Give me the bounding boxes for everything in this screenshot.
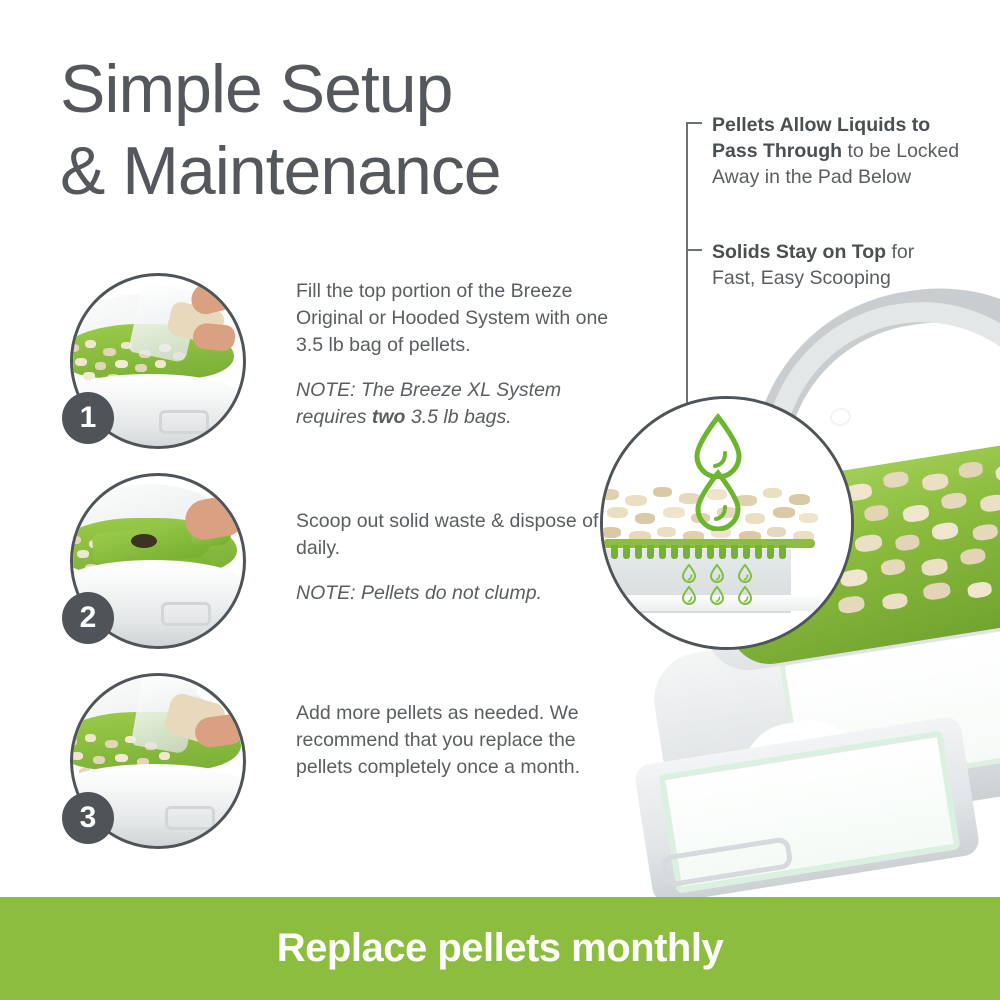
liquid-drop-small-6	[737, 585, 753, 605]
bottom-banner: Replace pellets monthly	[0, 897, 1000, 1000]
step-2-badge: 2	[62, 592, 114, 644]
liquid-drop-small-3	[737, 563, 753, 583]
solid-waste	[131, 534, 157, 548]
liquid-drop-small-1	[681, 563, 697, 583]
step-1-note: NOTE: The Breeze XL System requires two …	[296, 377, 636, 431]
step-2-text: Scoop out solid waste & dispose of daily…	[296, 508, 636, 607]
drawer-handle-shape	[159, 410, 209, 434]
page-title: Simple Setup & Maintenance	[60, 48, 680, 212]
drawer-handle-shape	[161, 602, 211, 626]
hand	[188, 277, 240, 317]
inset-grate-pegs	[611, 545, 789, 559]
step-1-body: Fill the top portion of the Breeze Origi…	[296, 278, 636, 359]
step-2-body: Scoop out solid waste & dispose of daily…	[296, 508, 636, 562]
step-3-badge: 3	[62, 792, 114, 844]
liquid-drop-large-2	[693, 469, 743, 531]
callout-2-bold: Solids Stay on Top	[712, 241, 886, 263]
infographic-canvas: Simple Setup & Maintenance	[0, 0, 1000, 1000]
step-1-badge: 1	[62, 392, 114, 444]
callout-tick-1	[686, 122, 702, 124]
step-2-note: NOTE: Pellets do not clump.	[296, 580, 636, 607]
liquid-drop-small-5	[709, 585, 725, 605]
magnifier-inset	[600, 396, 854, 650]
callout-1: Pellets Allow Liquids to Pass Through to…	[712, 112, 972, 190]
hand-lower	[192, 322, 236, 352]
step-3-body: Add more pellets as needed. We recommend…	[296, 700, 616, 781]
callout-tick-2	[686, 249, 702, 251]
banner-text: Replace pellets monthly	[277, 926, 723, 971]
drawer-handle-shape	[165, 806, 215, 830]
liquid-drop-small-2	[709, 563, 725, 583]
step-3-text: Add more pellets as needed. We recommend…	[296, 700, 616, 781]
step-1-text: Fill the top portion of the Breeze Origi…	[296, 278, 636, 431]
liquid-drop-small-4	[681, 585, 697, 605]
